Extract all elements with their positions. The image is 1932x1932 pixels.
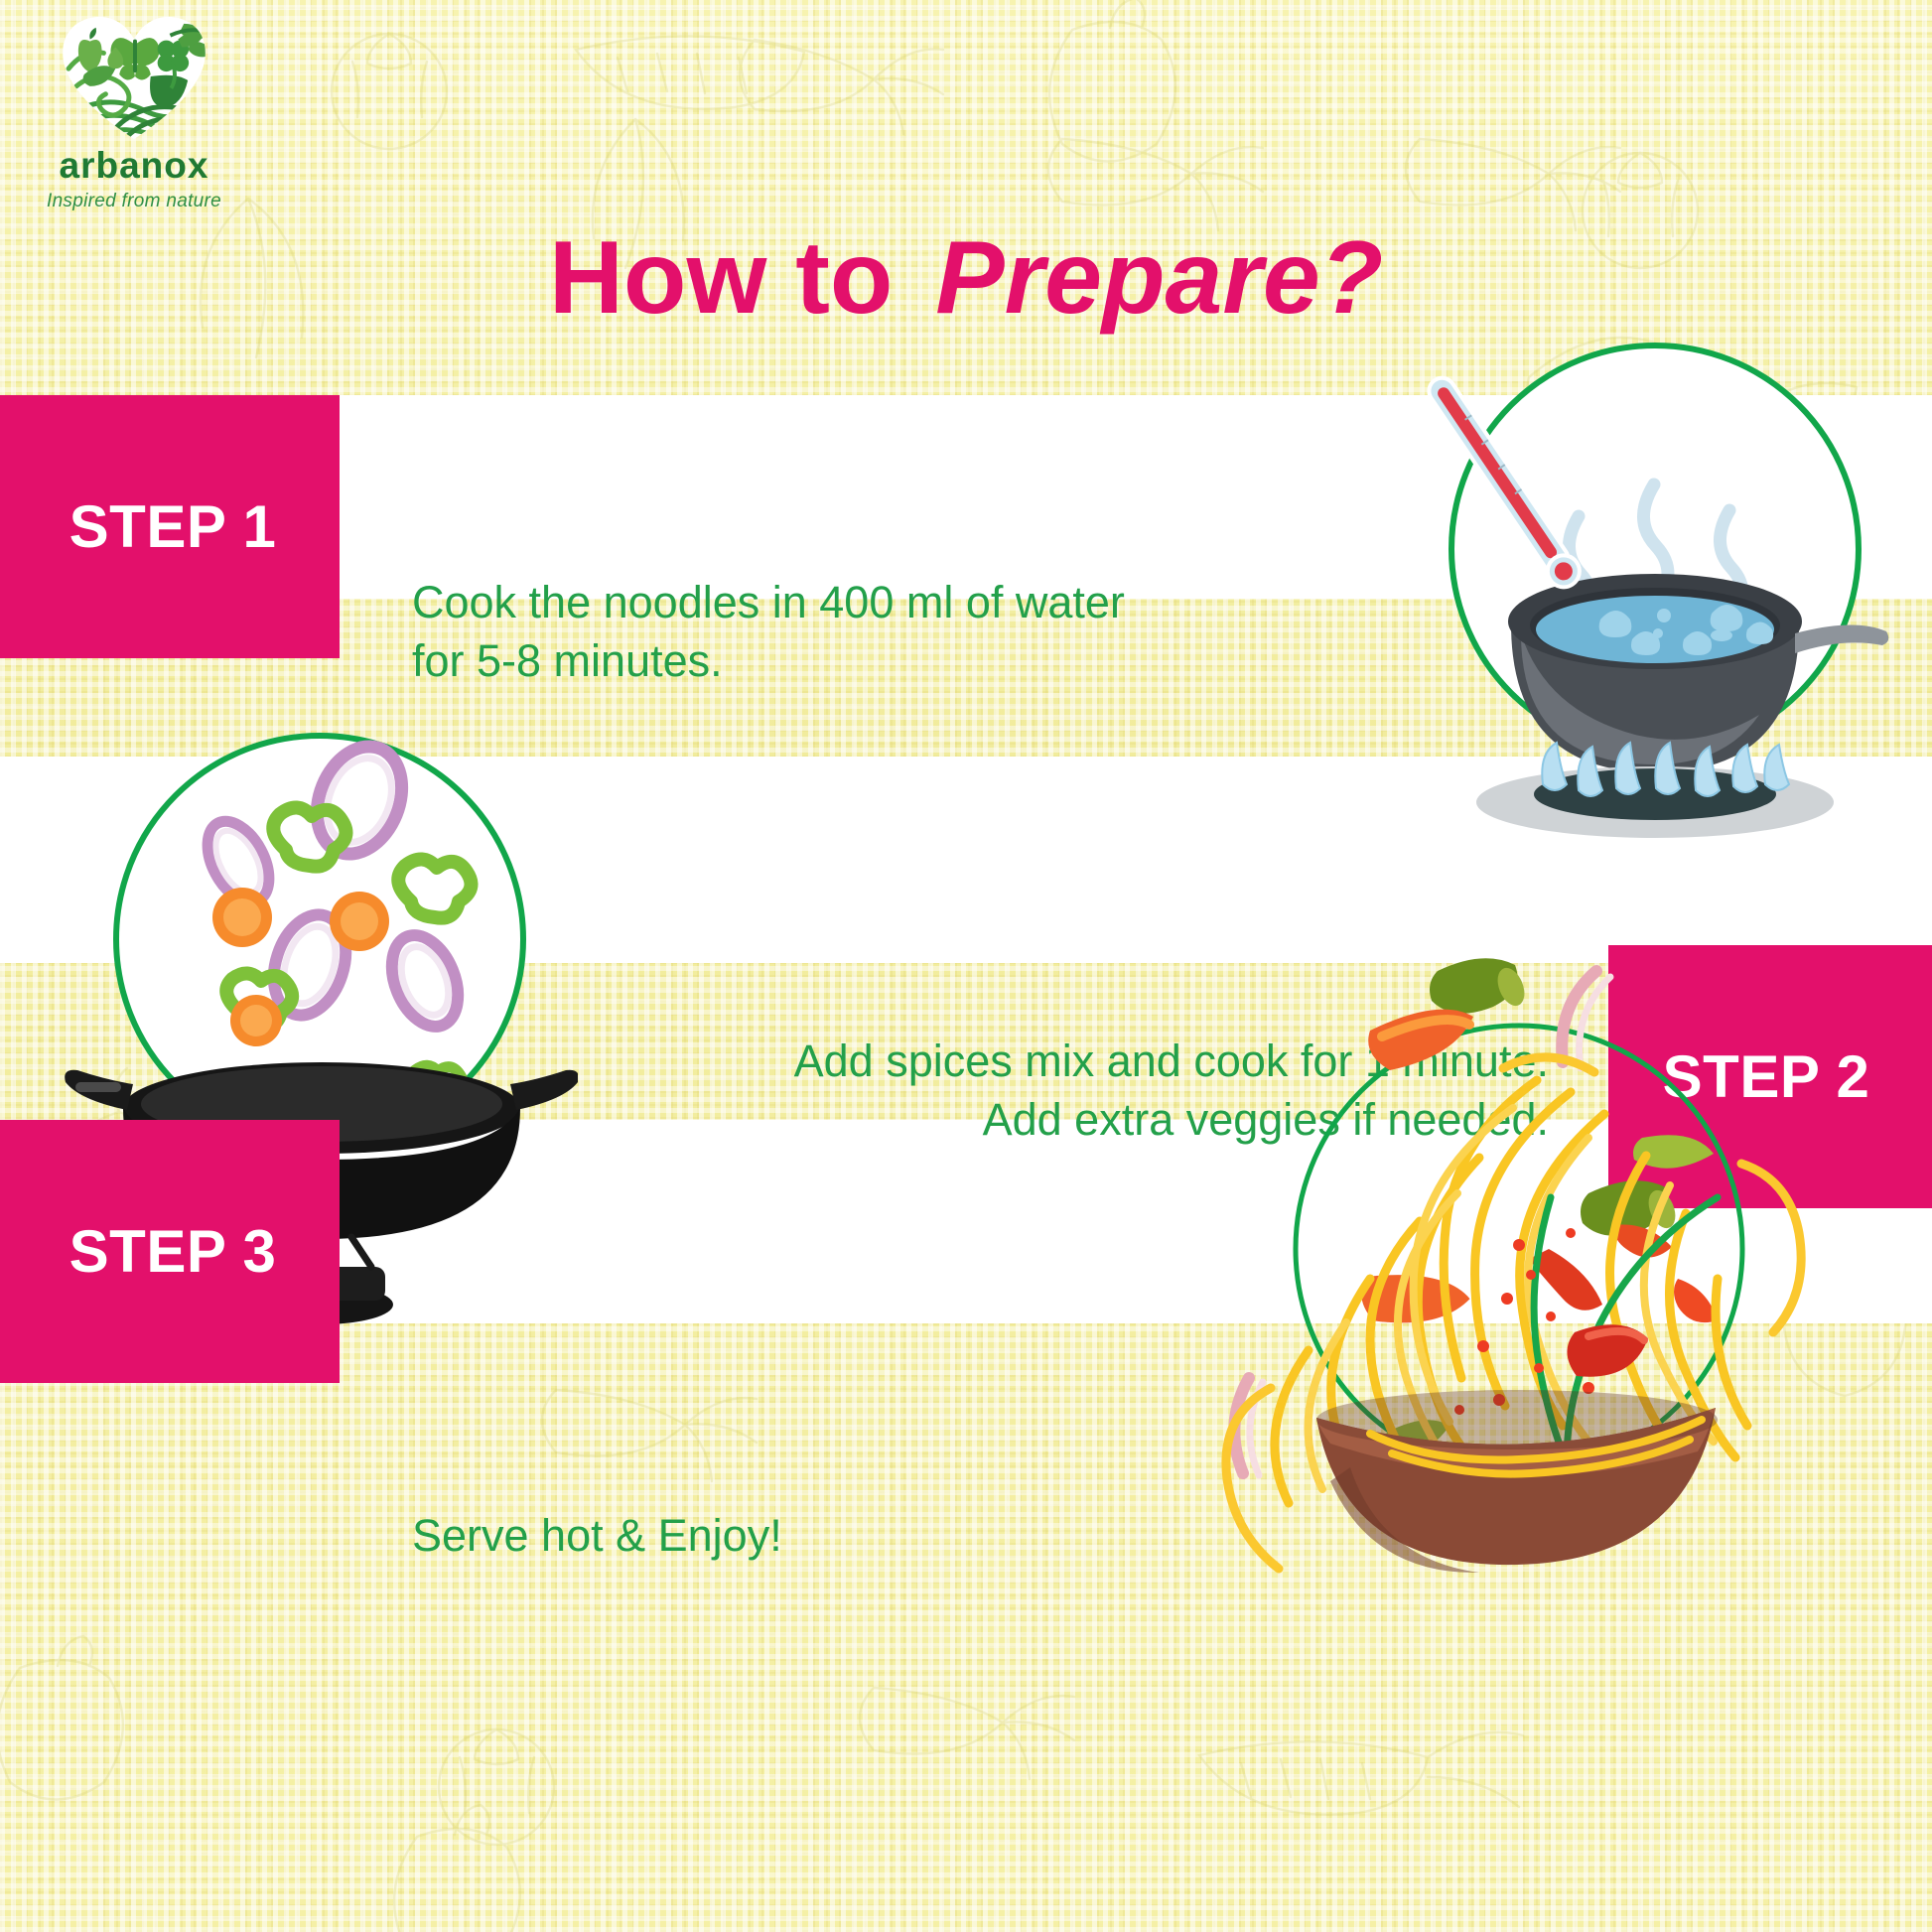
title-regular: How to	[549, 220, 921, 336]
boiling-pot-illustration	[1263, 336, 1932, 852]
nature-heart-logo-icon	[60, 14, 208, 143]
brand-name: arbanox	[30, 145, 238, 187]
step-3-label: STEP 3	[0, 1222, 340, 1282]
step-1-chip: STEP 1	[0, 395, 340, 658]
brand-tagline: Inspired from nature	[30, 191, 238, 212]
step-1-label: STEP 1	[0, 497, 340, 557]
page-title: How to Prepare?	[0, 226, 1932, 330]
step-3-chip: STEP 3	[0, 1120, 340, 1383]
brand-logo: arbanox Inspired from nature	[30, 14, 238, 222]
title-emphasis: Prepare?	[921, 220, 1383, 336]
noodle-bowl-illustration	[1122, 951, 1817, 1587]
